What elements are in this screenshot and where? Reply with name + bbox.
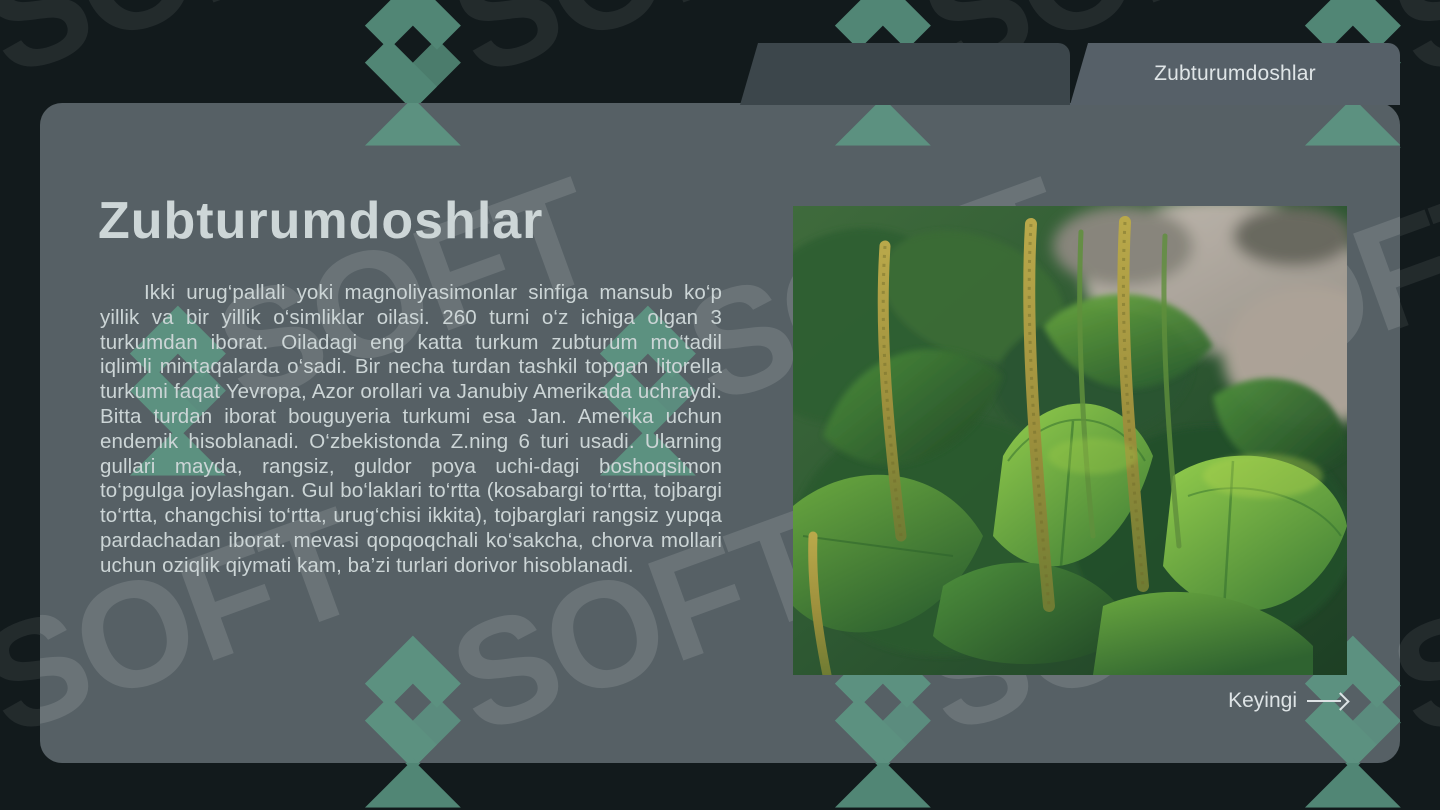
brand-logo-icon xyxy=(0,638,7,808)
next-button[interactable]: Keyingi xyxy=(1228,689,1347,713)
slide-card: SOFTSOFTSOFTSOFTSOFTSOFTSOFTSOFTSOFTSOFT… xyxy=(40,103,1400,763)
brand-logo-icon xyxy=(0,0,7,148)
brand-logo-icon xyxy=(0,0,7,148)
slide-stage: SOFTSOFTSOFTSOFTSOFTSOFTSOFTSOFTSOFTSOFT… xyxy=(0,0,1440,810)
arrow-right-icon xyxy=(1307,694,1347,708)
watermark-text: SOFT xyxy=(0,0,377,99)
tab-inactive[interactable] xyxy=(740,43,1070,105)
body-paragraph: Ikki urug‘pallali yoki magnoliyasimonlar… xyxy=(100,281,722,579)
brand-logo-icon xyxy=(0,638,7,808)
tab-zubturumdoshlar[interactable]: Zubturumdoshlar xyxy=(1070,43,1400,105)
tab-label: Zubturumdoshlar xyxy=(1154,62,1316,86)
plant-photo xyxy=(793,206,1347,675)
next-button-label: Keyingi xyxy=(1228,689,1297,713)
plant-photo-graphic xyxy=(793,206,1347,675)
page-title: Zubturumdoshlar xyxy=(98,191,543,251)
card-content: Zubturumdoshlar Ikki urug‘pallali yoki m… xyxy=(40,103,1400,763)
